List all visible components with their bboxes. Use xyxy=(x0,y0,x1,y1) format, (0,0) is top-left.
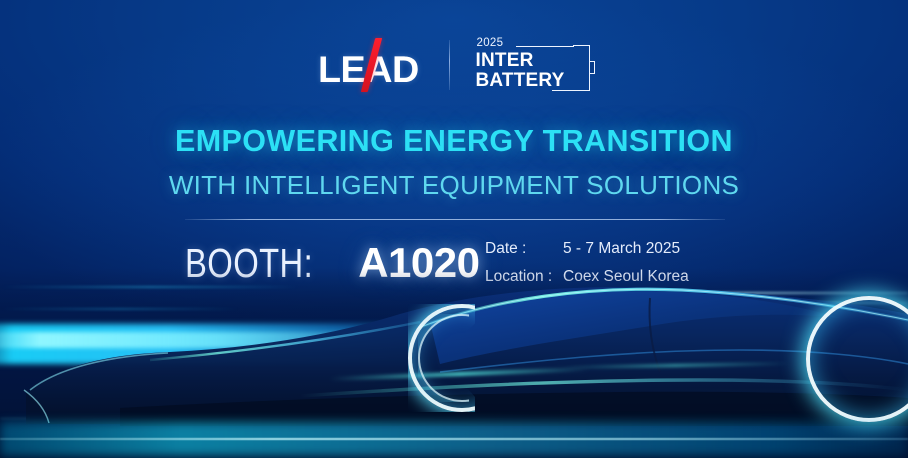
logo-divider xyxy=(449,40,450,90)
interbattery-top-rule xyxy=(516,46,574,47)
ground-line xyxy=(0,438,908,440)
lead-logo: LEAD xyxy=(319,42,423,88)
car-artwork-scene xyxy=(0,268,908,458)
section-divider xyxy=(185,219,725,220)
event-date-row: Date : 5 - 7 March 2025 xyxy=(485,235,689,263)
date-label: Date : xyxy=(485,235,563,263)
interbattery-line2: BATTERY xyxy=(476,71,565,90)
interbattery-logo: 2025 INTER BATTERY xyxy=(476,38,590,92)
date-value: 5 - 7 March 2025 xyxy=(563,235,680,263)
event-promo-banner: LEAD 2025 INTER BATTERY EMPOWERING ENERG… xyxy=(0,0,908,458)
battery-outline-icon xyxy=(573,45,590,91)
logo-row: LEAD 2025 INTER BATTERY xyxy=(0,38,908,92)
subheadline: WITH INTELLIGENT EQUIPMENT SOLUTIONS xyxy=(0,170,908,201)
interbattery-line1: INTER xyxy=(476,51,534,70)
battery-terminal-icon xyxy=(590,61,595,74)
headline: EMPOWERING ENERGY TRANSITION xyxy=(0,124,908,159)
interbattery-year: 2025 xyxy=(477,37,504,49)
